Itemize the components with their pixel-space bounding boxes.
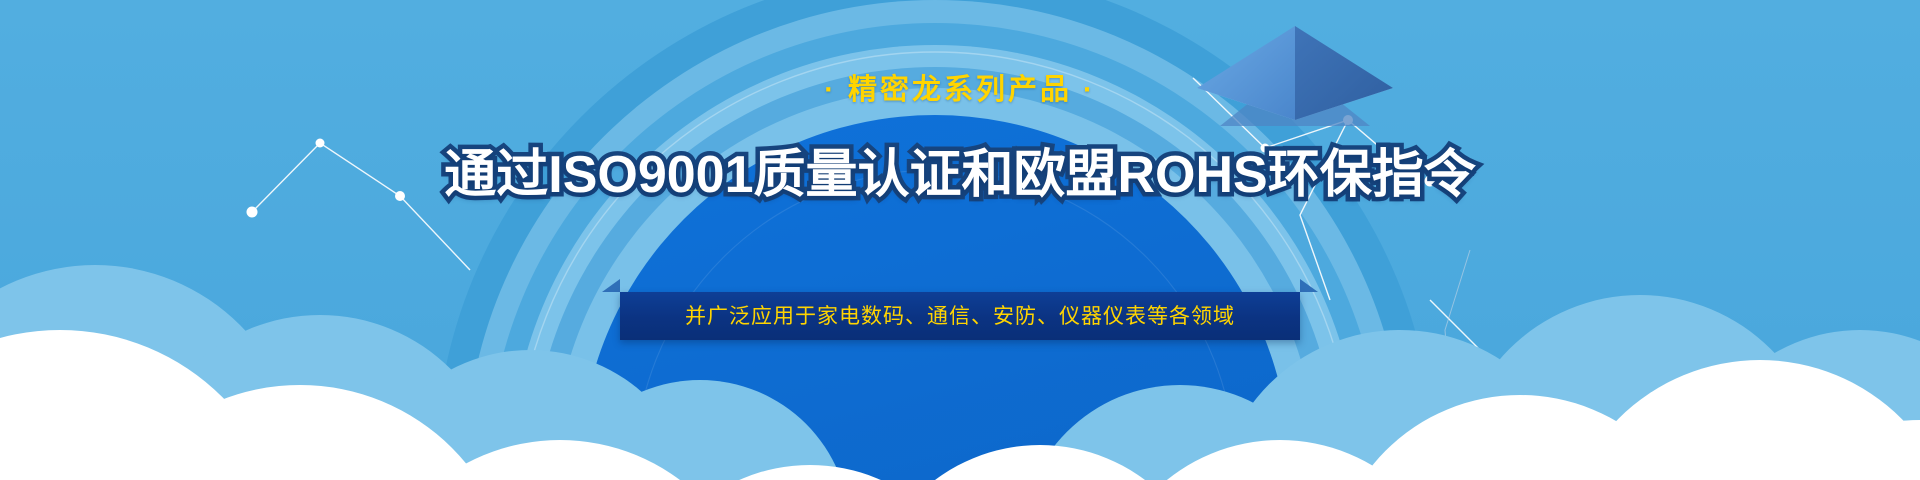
cloud-foreground — [0, 0, 1920, 480]
promo-banner: · 精密龙系列产品 · 通过ISO9001质量认证和欧盟ROHS环保指令 并广泛… — [0, 0, 1920, 480]
